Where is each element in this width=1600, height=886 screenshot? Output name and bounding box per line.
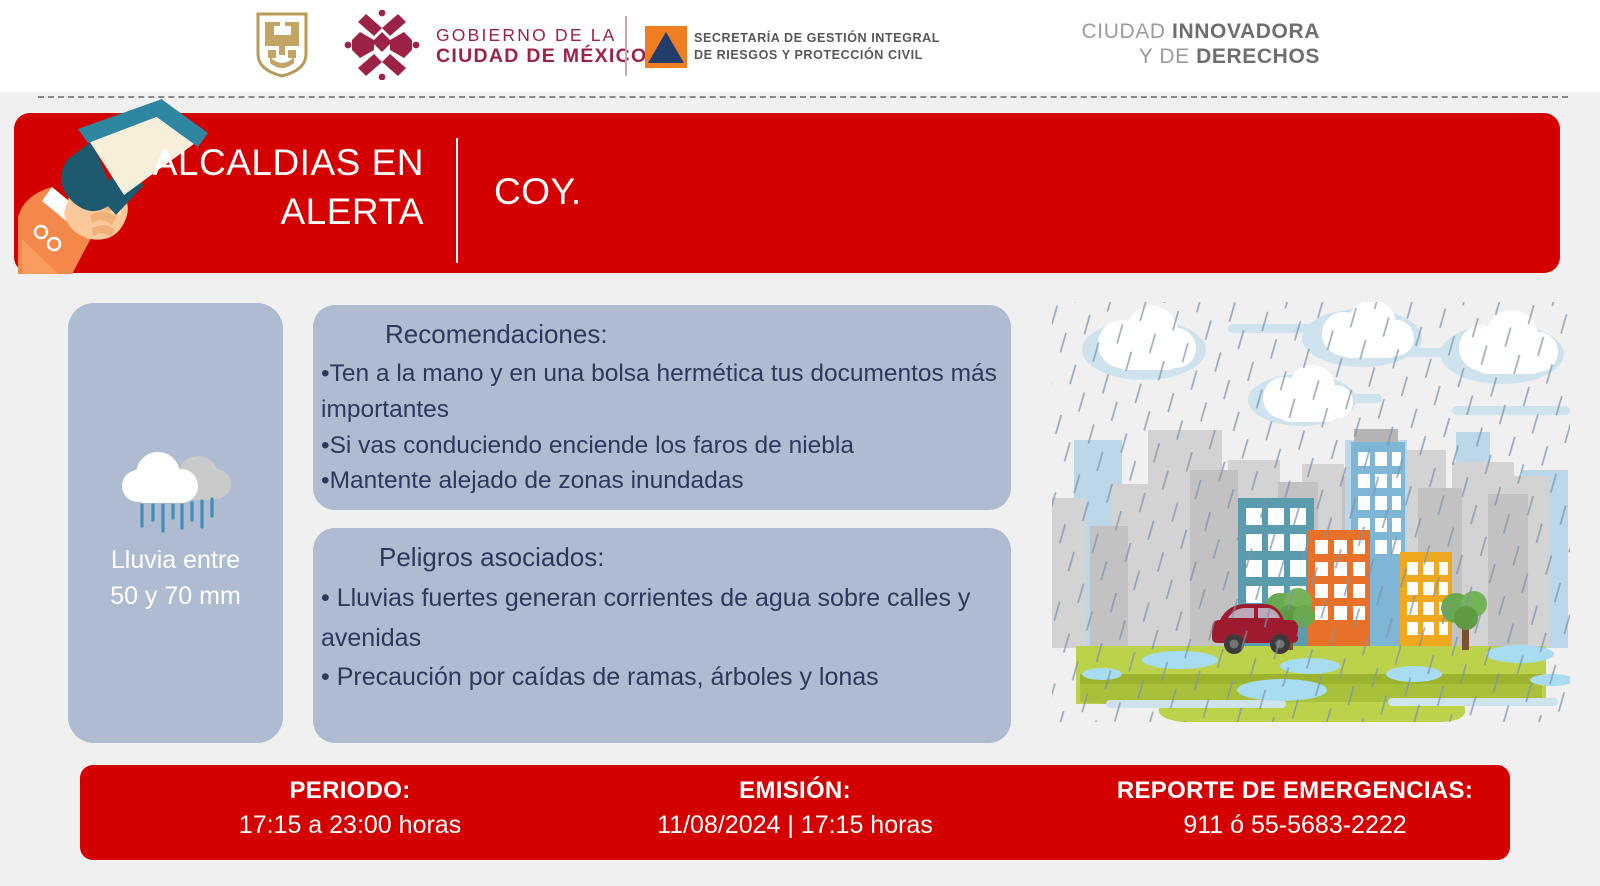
header-dashed-separator (38, 96, 1568, 98)
alcaldia-name: COY. (494, 171, 582, 213)
emision-label: EMISIÓN: (600, 777, 990, 805)
cdmx-shield-icon (256, 12, 308, 78)
alert-title: ALCALDIAS EN ALERTA (94, 139, 424, 237)
hazard-item: • Lluvias fuertes generan corrientes de … (321, 579, 1005, 658)
footer-reporte: REPORTE DE EMERGENCIAS: 911 ó 55-5683-22… (1090, 777, 1500, 840)
alert-banner: ALCALDIAS EN ALERTA COY. (14, 113, 1560, 273)
alert-title-line-1: ALCALDIAS EN (94, 139, 424, 188)
alert-title-line-2: ALERTA (94, 188, 424, 237)
hazards-heading: Peligros asociados: (313, 528, 1011, 573)
government-wordmark: GOBIERNO DE LA CIUDAD DE MÉXICO (436, 26, 647, 67)
recommendation-item: •Mantente alejado de zonas inundadas (321, 463, 1005, 499)
rain-intensity-label: Lluvia entre 50 y 70 mm (68, 543, 283, 614)
recommendations-heading: Recomendaciones: (313, 305, 1011, 350)
secretariat-line-1: SECRETARÍA DE GESTIÓN INTEGRAL (694, 30, 940, 47)
city-tagline: CIUDAD INNOVADORA Y DE DERECHOS (1040, 20, 1320, 70)
periodo-value: 17:15 a 23:00 horas (185, 811, 515, 840)
government-line-2: CIUDAD DE MÉXICO (436, 46, 647, 68)
reporte-label: REPORTE DE EMERGENCIAS: (1090, 777, 1500, 805)
tagline-line1-light: CIUDAD (1082, 20, 1173, 43)
tagline-line1-bold: INNOVADORA (1172, 20, 1320, 43)
recommendations-list: •Ten a la mano y en una bolsa hermética … (313, 350, 1011, 499)
rain-label-line-2: 50 y 70 mm (68, 579, 283, 615)
footer-emision: EMISIÓN: 11/08/2024 | 17:15 horas (600, 777, 990, 840)
hazards-list: • Lluvias fuertes generan corrientes de … (313, 573, 1011, 698)
rain-cloud-icon (118, 448, 233, 538)
recommendations-box: Recomendaciones: •Ten a la mano y en una… (313, 305, 1011, 510)
page-header: GOBIERNO DE LA CIUDAD DE MÉXICO SECRETAR… (0, 0, 1600, 92)
recommendation-item: •Ten a la mano y en una bolsa hermética … (321, 356, 1005, 428)
recommendation-item: •Si vas conduciendo enciende los faros d… (321, 428, 1005, 464)
reporte-value: 911 ó 55-5683-2222 (1090, 811, 1500, 840)
protection-civil-triangle-icon (645, 26, 687, 68)
secretariat-wordmark: SECRETARÍA DE GESTIÓN INTEGRAL DE RIESGO… (694, 30, 940, 64)
rain-label-line-1: Lluvia entre (68, 543, 283, 579)
tagline-line2-bold: DERECHOS (1196, 45, 1320, 68)
header-divider (625, 16, 627, 76)
hazards-box: Peligros asociados: • Lluvias fuertes ge… (313, 528, 1011, 743)
alert-footer-bar: PERIODO: 17:15 a 23:00 horas EMISIÓN: 11… (80, 765, 1510, 860)
hazard-item: • Precaución por caídas de ramas, árbole… (321, 658, 1005, 698)
cdmx-logo-icon (344, 10, 420, 80)
rainy-city-illustration (1052, 302, 1570, 732)
government-line-1: GOBIERNO DE LA (436, 26, 647, 46)
tagline-line2-light: Y DE (1139, 45, 1196, 68)
periodo-label: PERIODO: (185, 777, 515, 805)
emision-value: 11/08/2024 | 17:15 horas (600, 811, 990, 840)
rain-intensity-panel: Lluvia entre 50 y 70 mm (68, 303, 283, 743)
alert-vertical-divider (456, 138, 458, 263)
footer-periodo: PERIODO: 17:15 a 23:00 horas (185, 777, 515, 840)
secretariat-line-2: DE RIESGOS Y PROTECCIÓN CIVIL (694, 47, 940, 64)
